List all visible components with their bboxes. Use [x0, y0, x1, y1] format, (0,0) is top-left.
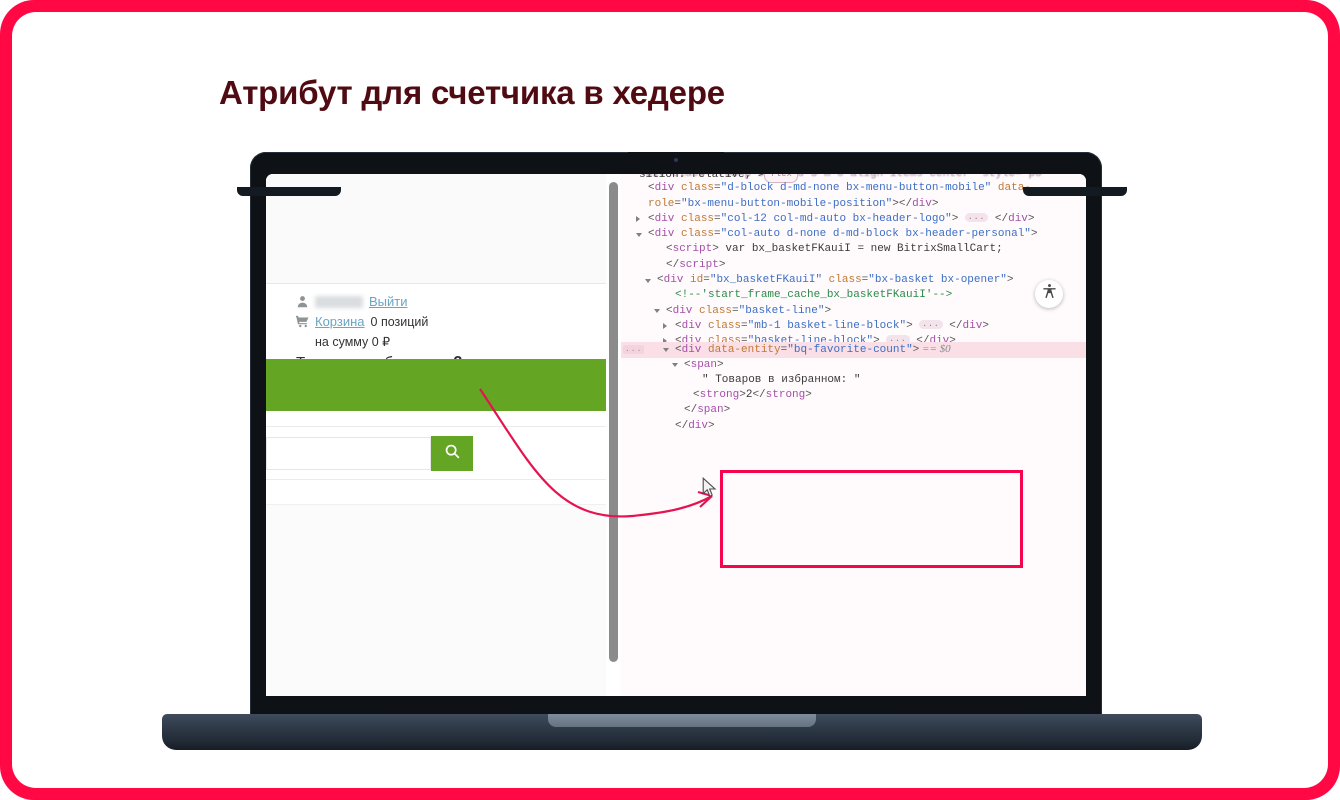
code-token: "basket-line"	[739, 305, 825, 317]
code-token: class	[822, 274, 862, 286]
dom-tree-line[interactable]: " Товаров в избранном: "	[621, 373, 1086, 388]
code-token: >	[873, 335, 886, 342]
cart-link[interactable]: Корзина	[315, 314, 365, 329]
code-token: class	[701, 335, 741, 342]
code-token: div	[912, 198, 932, 210]
dom-tree-line[interactable]: </div>	[621, 419, 1086, 434]
code-token: id	[683, 274, 703, 286]
code-token: <	[657, 274, 664, 286]
dom-tree-line[interactable]: <div class="basket-line">	[621, 304, 1086, 319]
code-token: " Товаров в избранном: "	[702, 374, 860, 386]
code-token: >	[805, 389, 812, 401]
code-token: <	[693, 389, 700, 401]
code-token: script	[673, 243, 713, 255]
code-token: span	[697, 404, 723, 416]
expand-triangle-icon[interactable]	[636, 216, 640, 222]
code-token: <	[666, 243, 673, 255]
code-token: var bx_basketFKauiI = new BitrixSmallCar…	[719, 243, 1003, 255]
selected-dom-node[interactable]: ...<div data-entity="bq-favorite-count">…	[621, 342, 1086, 357]
dom-tree-line[interactable]: <div class="col-auto d-none d-md-block b…	[621, 227, 1086, 242]
code-token: </	[666, 259, 679, 271]
accessibility-icon	[1041, 283, 1058, 305]
code-token: "bx_basketFKauiI"	[710, 274, 822, 286]
code-token: >	[982, 320, 989, 332]
search-icon	[444, 443, 461, 463]
laptop-foot-left	[237, 187, 341, 196]
cart-sum: на сумму 0 ₽	[315, 334, 596, 349]
code-token: <	[675, 344, 682, 356]
code-token: span	[691, 359, 717, 371]
collapse-triangle-icon[interactable]	[663, 348, 669, 352]
code-token: >	[824, 305, 831, 317]
code-token: == $0	[919, 343, 950, 355]
expand-ellipsis-badge[interactable]: ...	[965, 213, 988, 222]
code-token: =	[714, 228, 721, 240]
code-token: div	[655, 228, 675, 240]
code-token: "col-12 col-md-auto bx-header-logo"	[721, 213, 952, 225]
dom-tree-line[interactable]: <div id="bx_basketFKauiI" class="bx-bask…	[621, 273, 1086, 288]
code-token: <!--'start_frame_cache_bx_basketFKauiI'-…	[675, 289, 952, 301]
green-banner[interactable]	[266, 359, 638, 411]
code-token: "bx-basket bx-opener"	[868, 274, 1007, 286]
code-token: >	[892, 198, 899, 210]
code-token: </	[752, 389, 765, 401]
code-token: "d-block d-md-none bx-menu-button-mobile…	[721, 182, 992, 194]
code-token: </	[899, 198, 912, 210]
dom-tree-line[interactable]: <div class="col-12 col-md-auto bx-header…	[621, 212, 1086, 227]
code-token: >	[949, 335, 956, 342]
collapse-triangle-icon[interactable]	[654, 309, 660, 313]
dom-tree-line[interactable]: <div class="d-block d-md-none bx-menu-bu…	[621, 181, 1086, 212]
code-token: div	[963, 320, 983, 332]
code-token: class	[674, 213, 714, 225]
code-token: </	[943, 320, 963, 332]
code-token: <	[648, 182, 655, 194]
search-input[interactable]	[266, 437, 431, 470]
search-button[interactable]	[431, 436, 473, 471]
devtools-elements-panel[interactable]: <div class="row p-0 pr-md-3 m-0 align-it…	[621, 174, 1086, 696]
dom-tree-line[interactable]: <div class="basket-line-block"> ... </di…	[621, 334, 1086, 342]
laptop-screen: Выйти Корзина 0 позиций на сумму 0 ₽	[266, 174, 1086, 696]
person-icon	[296, 295, 309, 308]
scroll-more-badge[interactable]: ...	[623, 345, 644, 354]
code-token: script	[679, 259, 719, 271]
collapse-triangle-icon[interactable]	[672, 363, 678, 367]
page-scrollbar[interactable]	[606, 174, 621, 696]
code-token: >	[724, 404, 731, 416]
dom-tree-line[interactable]: <div class="mb-1 basket-line-block"> ...…	[621, 319, 1086, 334]
page-title: Атрибут для счетчика в хедере	[219, 74, 725, 112]
code-token: </	[988, 213, 1008, 225]
code-token: <	[648, 213, 655, 225]
laptop-lid: Выйти Корзина 0 позиций на сумму 0 ₽	[250, 152, 1102, 717]
dom-tree-line[interactable]: sition: relative;">flex	[621, 174, 1086, 181]
code-token: >	[717, 359, 724, 371]
code-token: >	[932, 198, 939, 210]
code-token: >	[952, 213, 965, 225]
code-token: </	[910, 335, 930, 342]
code-token: <	[684, 359, 691, 371]
cart-icon	[296, 315, 309, 328]
code-token: "col-auto d-none d-md-block bx-header-pe…	[721, 228, 1031, 240]
code-token: "basket-line-block"	[748, 335, 873, 342]
accessibility-widget-button[interactable]	[1035, 280, 1063, 308]
code-token: div	[688, 420, 708, 432]
search-row	[266, 426, 638, 480]
collapse-triangle-icon[interactable]	[645, 279, 651, 283]
code-token: "bq-favorite-count"	[787, 344, 912, 356]
code-token: div	[655, 213, 675, 225]
code-token: >	[708, 420, 715, 432]
dom-tree-line[interactable]: </script>	[621, 258, 1086, 273]
dom-tree-line[interactable]: <script> var bx_basketFKauiI = new Bitri…	[621, 242, 1086, 257]
code-token: <	[648, 228, 655, 240]
code-token: class	[674, 182, 714, 194]
website-pane: Выйти Корзина 0 позиций на сумму 0 ₽	[266, 174, 626, 696]
code-token: sition: relative;">	[639, 174, 764, 181]
code-token: =	[714, 182, 721, 194]
code-token: </	[684, 404, 697, 416]
code-token: div	[682, 320, 702, 332]
expand-ellipsis-badge[interactable]: ...	[886, 335, 909, 342]
dom-tree-line[interactable]: <strong>2</strong>	[621, 388, 1086, 403]
collapse-triangle-icon[interactable]	[636, 233, 642, 237]
code-token: =	[741, 320, 748, 332]
code-token: <	[675, 335, 682, 342]
mouse-pointer-icon	[702, 477, 718, 504]
code-token: strong	[700, 389, 740, 401]
page-bottom-strip	[266, 504, 626, 696]
code-token: div	[664, 274, 684, 286]
code-token: >	[1031, 228, 1038, 240]
code-token: </	[675, 420, 688, 432]
code-token: >	[719, 259, 726, 271]
cart-positions: 0 позиций	[371, 315, 429, 329]
laptop-base	[162, 714, 1202, 750]
code-token: >	[1007, 274, 1014, 286]
dom-tree-line[interactable]: </span>	[621, 403, 1086, 418]
code-token: data-entity	[701, 344, 780, 356]
code-token: div	[682, 344, 702, 356]
code-token: strong	[766, 389, 806, 401]
user-row: Выйти	[296, 294, 596, 309]
code-token: class	[674, 228, 714, 240]
code-token: div	[655, 182, 675, 194]
camera-dot-icon	[674, 158, 678, 162]
code-token: class	[692, 305, 732, 317]
code-token: class	[701, 320, 741, 332]
laptop-foot-right	[1023, 187, 1127, 196]
code-token: div	[929, 335, 949, 342]
code-token: >	[906, 320, 919, 332]
expand-triangle-icon[interactable]	[663, 323, 667, 329]
code-token: >	[1028, 213, 1035, 225]
page-scrollbar-thumb[interactable]	[609, 182, 618, 662]
slide-frame: Атрибут для счетчика в хедере	[0, 0, 1340, 800]
code-token: =	[741, 335, 748, 342]
slide-canvas: Атрибут для счетчика в хедере	[12, 12, 1328, 788]
username-masked	[315, 296, 363, 308]
code-token: >	[739, 389, 746, 401]
laptop-mockup: Выйти Корзина 0 позиций на сумму 0 ₽	[162, 152, 1202, 752]
code-token: =	[714, 213, 721, 225]
devtools-dom-tree[interactable]: sition: relative;">flex<div class="d-blo…	[621, 174, 1086, 434]
code-token: <	[666, 305, 673, 317]
code-token: <	[675, 320, 682, 332]
expand-ellipsis-badge[interactable]: ...	[919, 320, 942, 329]
code-token: div	[682, 335, 702, 342]
code-token: "mb-1 basket-line-block"	[748, 320, 906, 332]
dom-tree-line[interactable]: <span>	[621, 358, 1086, 373]
code-token: >	[712, 243, 719, 255]
laptop-base-notch	[548, 714, 816, 727]
dom-tree-line[interactable]: <!--'start_frame_cache_bx_basketFKauiI'-…	[621, 288, 1086, 303]
logout-link[interactable]: Выйти	[369, 294, 408, 309]
cart-row: Корзина 0 позиций	[296, 314, 596, 329]
code-token: =	[703, 274, 710, 286]
code-token: "bx-menu-button-mobile-position"	[681, 198, 892, 210]
code-token: =	[732, 305, 739, 317]
code-token: div	[1008, 213, 1028, 225]
code-token: div	[673, 305, 693, 317]
